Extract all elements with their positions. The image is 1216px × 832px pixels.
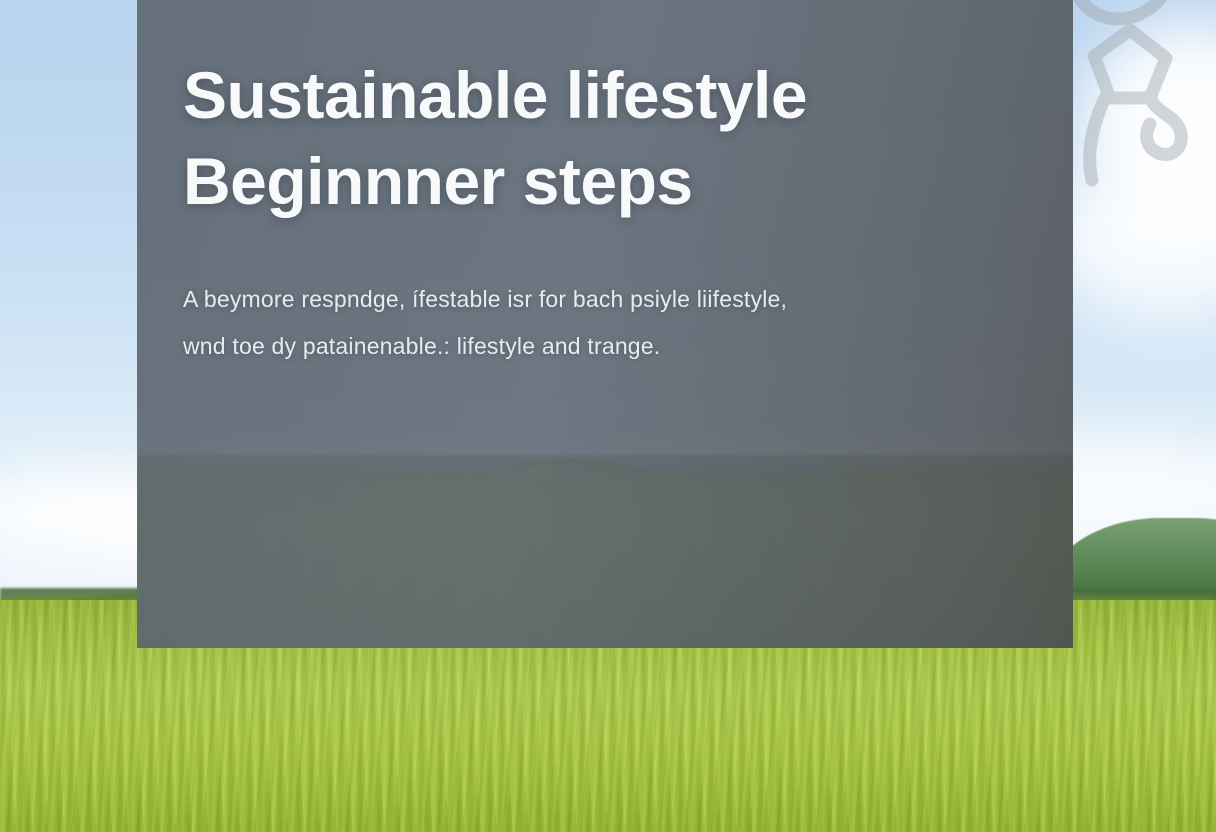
panel-text-block: Sustainable lifestyle Beginnner steps A … xyxy=(183,52,1017,370)
body-line-2: wnd toe dy patainenable.: lifestyle and … xyxy=(183,323,1013,370)
poster-body-copy: A beymore respndge, ífestable isr for ba… xyxy=(183,276,1013,370)
body-line-1: A beymore respndge, ífestable isr for ba… xyxy=(183,276,1013,323)
poster-headline: Sustainable lifestyle Beginnner steps xyxy=(183,52,1017,224)
headline-line-2: Beginnner steps xyxy=(183,138,1017,224)
headline-line-1: Sustainable lifestyle xyxy=(183,52,1017,138)
poster-canvas: Sustainable lifestyle Beginnner steps A … xyxy=(0,0,1216,832)
overlay-panel: Sustainable lifestyle Beginnner steps A … xyxy=(137,0,1073,648)
